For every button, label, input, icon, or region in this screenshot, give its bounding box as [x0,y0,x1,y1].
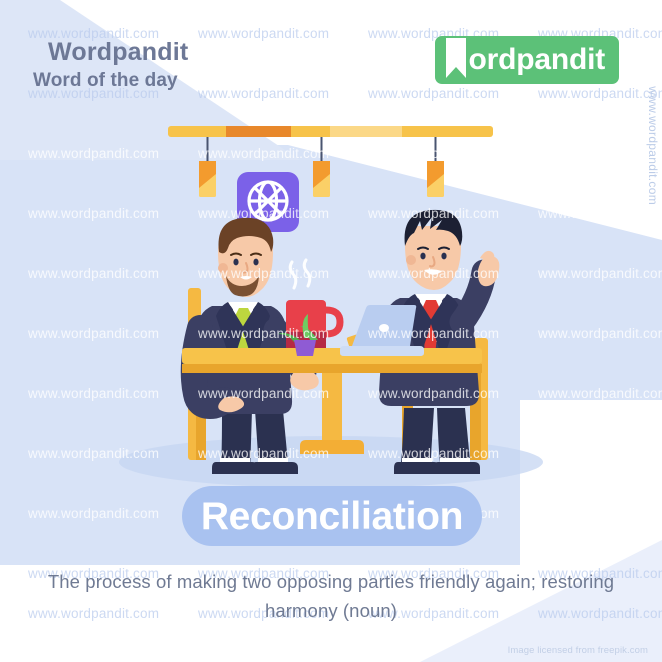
bookmark-w-icon [443,38,469,82]
logo-text: ordpandit [468,45,605,75]
hanging-tag-3 [427,137,444,197]
word-of-the-day-card: www.wordpandit.com www.wordpandit.com ww… [0,0,662,662]
word-term: Reconciliation [201,497,463,536]
word-definition: The process of making two opposing parti… [14,568,648,625]
laptop [340,305,424,356]
word-of-the-day-pill: Reconciliation [182,486,482,546]
wordpandit-logo[interactable]: ordpandit [435,36,619,84]
hanging-tag-2 [313,137,330,197]
image-credit: Image licensed from freepik.com [508,645,648,656]
hanging-tag-1 [199,137,216,197]
page-subtitle: Word of the day [33,70,178,92]
page-title: Wordpandit [48,38,188,67]
overhead-yellow-bar [168,126,493,137]
